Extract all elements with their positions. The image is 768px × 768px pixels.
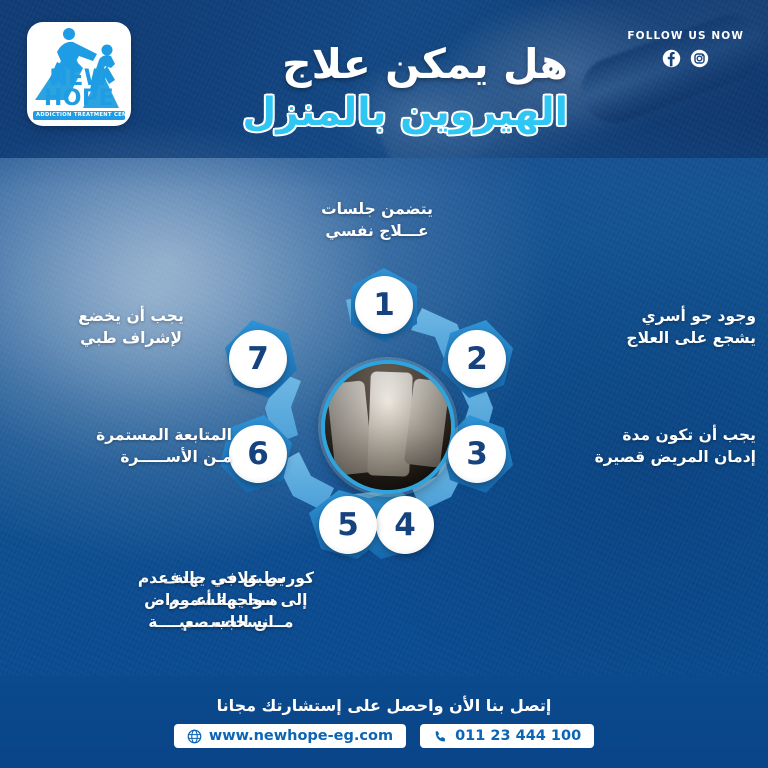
logo-tagline: ADDICTION TREATMENT CENTER bbox=[33, 111, 125, 120]
follow-us-block: FOLLOW US NOW bbox=[627, 30, 744, 68]
step-number-5[interactable]: 5 bbox=[319, 496, 377, 554]
step-label-3: يجب أن تكون مدة إدمان المريض قصيرة bbox=[520, 424, 756, 468]
step-label-7: يجب أن يخضع لإشراف طبي bbox=[22, 305, 240, 349]
page-title: هل يمكن علاج الهيروين بالمنزل bbox=[168, 40, 568, 137]
center-photo bbox=[321, 360, 455, 494]
step-label-5: يطبق في حالة عدم مـواجهة أعـــراض انسحاب… bbox=[106, 567, 316, 633]
logo-line-2: HOPE bbox=[27, 89, 131, 109]
follow-us-label: FOLLOW US NOW bbox=[627, 30, 744, 42]
step-label-6: المتابعة المستمرة مـن الأســـــرة bbox=[18, 424, 232, 468]
instagram-icon[interactable] bbox=[690, 49, 709, 68]
step-3-line-1: يجب أن تكون مدة bbox=[520, 424, 756, 446]
step-number-2[interactable]: 2 bbox=[448, 330, 506, 388]
step-6-line-2: مـن الأســـــرة bbox=[18, 446, 232, 468]
step-1-line-1: يتضمن جلسات bbox=[277, 198, 477, 220]
step-5-line-3: انسحاب صعبــــة bbox=[106, 611, 316, 633]
title-line-1: هل يمكن علاج bbox=[168, 40, 568, 88]
step-number-3[interactable]: 3 bbox=[448, 425, 506, 483]
footer-bar: إتصل بنا الأن واحصل على إستشارتك مجانا w… bbox=[0, 676, 768, 768]
phone-text: 011 23 444 100 bbox=[455, 728, 581, 744]
globe-icon bbox=[187, 729, 202, 744]
step-number-1[interactable]: 1 bbox=[355, 276, 413, 334]
title-line-2: الهيروين بالمنزل bbox=[242, 90, 568, 137]
step-1-line-2: عـــلاج نفسي bbox=[277, 220, 477, 242]
footer-contacts: www.newhope-eg.com 011 23 444 100 bbox=[174, 724, 594, 748]
step-7-line-2: لإشراف طبي bbox=[22, 327, 240, 349]
steps-wheel: 1 2 3 4 5 6 7 bbox=[221, 268, 547, 574]
step-7-line-1: يجب أن يخضع bbox=[22, 305, 240, 327]
step-number-4[interactable]: 4 bbox=[376, 496, 434, 554]
footer-cta-text: إتصل بنا الأن واحصل على إستشارتك مجانا bbox=[217, 696, 552, 715]
infographic-poster: NEW HOPE ADDICTION TREATMENT CENTER FOLL… bbox=[0, 0, 768, 768]
step-5-line-2: مـواجهة أعـــراض bbox=[106, 589, 316, 611]
step-label-2: وجود جو أسري يشجع على العلاج bbox=[520, 305, 756, 349]
step-3-line-2: إدمان المريض قصيرة bbox=[520, 446, 756, 468]
website-pill[interactable]: www.newhope-eg.com bbox=[174, 724, 406, 748]
step-2-line-2: يشجع على العلاج bbox=[520, 327, 756, 349]
logo-wordmark: NEW HOPE ADDICTION TREATMENT CENTER bbox=[27, 69, 131, 120]
website-text: www.newhope-eg.com bbox=[209, 728, 393, 744]
step-6-line-1: المتابعة المستمرة bbox=[18, 424, 232, 446]
phone-icon bbox=[433, 729, 448, 744]
social-icons bbox=[627, 49, 744, 68]
facebook-icon[interactable] bbox=[662, 49, 681, 68]
brand-logo[interactable]: NEW HOPE ADDICTION TREATMENT CENTER bbox=[27, 22, 131, 126]
step-label-1: يتضمن جلسات عـــلاج نفسي bbox=[277, 198, 477, 242]
step-number-6[interactable]: 6 bbox=[229, 425, 287, 483]
phone-pill[interactable]: 011 23 444 100 bbox=[420, 724, 594, 748]
photo-vignette bbox=[325, 364, 451, 490]
step-2-line-1: وجود جو أسري bbox=[520, 305, 756, 327]
step-5-line-1: يطبق في حالة عدم bbox=[106, 567, 316, 589]
